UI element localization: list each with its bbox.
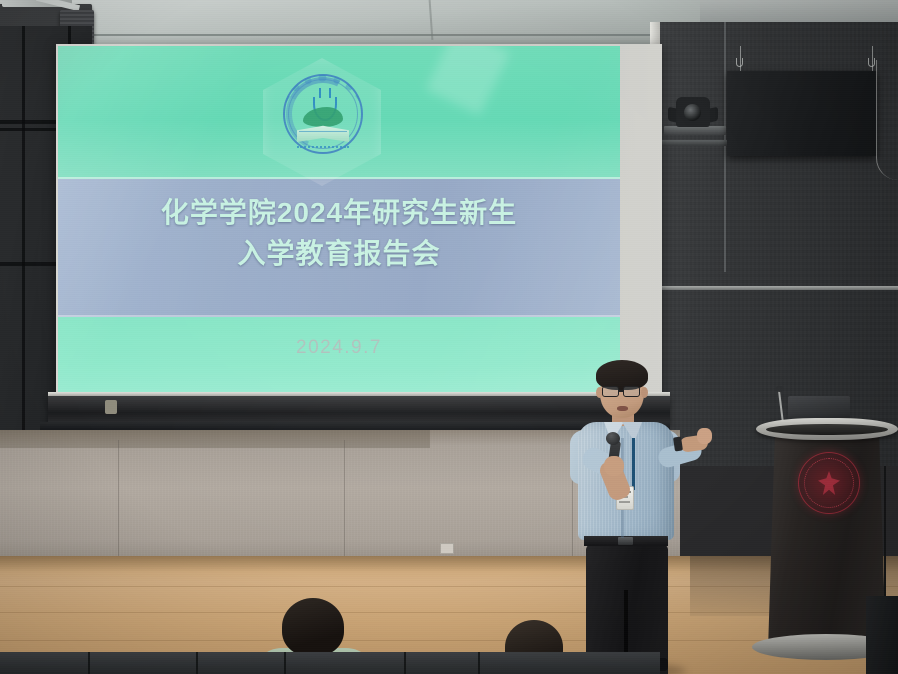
- slide-title-line-1: 化学学院2024年研究生新生: [161, 197, 517, 228]
- lower-wall-seam: [118, 440, 119, 558]
- lecture-hall-photo: ▣ 化学学院2024年研究生新生: [0, 0, 898, 674]
- left-wall-seam: [22, 26, 25, 456]
- projection-screen: 化学学院2024年研究生新生 入学教育报告会 2024.9.7: [58, 46, 620, 396]
- id-badge-text-line: [619, 501, 630, 503]
- slide-divider-lower: [58, 315, 620, 317]
- audience-member-head: [282, 598, 344, 656]
- seat-divider: [478, 652, 480, 674]
- presenter-hand-left: [604, 456, 624, 476]
- screen-bar-clip: [105, 400, 117, 414]
- presenter-hand-right: [697, 428, 712, 444]
- gooseneck-mic-capsule-icon: [775, 386, 784, 392]
- slide-divider-upper: [58, 177, 620, 179]
- slide-canvas: 化学学院2024年研究生新生 入学教育报告会 2024.9.7: [58, 46, 620, 396]
- loudspeaker-icon: ▣: [727, 71, 877, 156]
- lectern-top-inner: [766, 424, 888, 435]
- seat-row: [0, 652, 660, 674]
- presenter: [560, 360, 710, 674]
- camera-shelf: [664, 126, 726, 135]
- eyeglasses-lens-right: [623, 386, 640, 397]
- book-spine-line: [299, 131, 347, 132]
- eyeglasses-lens-left: [602, 386, 619, 397]
- presenter-ear-right: [641, 387, 648, 398]
- slide-title-line-2: 入学教育报告会: [58, 233, 620, 274]
- audience-member-partial: [866, 596, 898, 674]
- speaker-hook-icon: [736, 58, 743, 67]
- emblem-base-dots: [297, 140, 349, 148]
- seat-divider: [196, 652, 198, 674]
- lower-wall-shadow-band: [0, 430, 430, 448]
- seat-divider: [88, 652, 90, 674]
- right-wall-horizontal-trim: [660, 286, 898, 290]
- camera-shelf-lower: [660, 140, 734, 146]
- eyeglasses-bridge: [618, 390, 624, 392]
- chemistry-college-emblem-icon: [283, 74, 363, 154]
- slide-title: 化学学院2024年研究生新生 入学教育报告会: [58, 192, 620, 275]
- hanging-cable: [876, 60, 898, 180]
- camera-lens-icon: [684, 104, 701, 121]
- presenter-mouth: [617, 406, 628, 411]
- lanyard-strap-right: [632, 438, 635, 490]
- wall-outlet: [440, 543, 454, 554]
- lower-wall-seam: [344, 440, 345, 558]
- ceiling-seam: [0, 34, 700, 36]
- slide-date: 2024.9.7: [58, 337, 620, 359]
- presenter-belt-buckle: [618, 537, 633, 545]
- seat-divider: [284, 652, 286, 674]
- seat-divider: [404, 652, 406, 674]
- right-wall-seam: [724, 22, 726, 272]
- speaker-hook-icon: [868, 58, 875, 67]
